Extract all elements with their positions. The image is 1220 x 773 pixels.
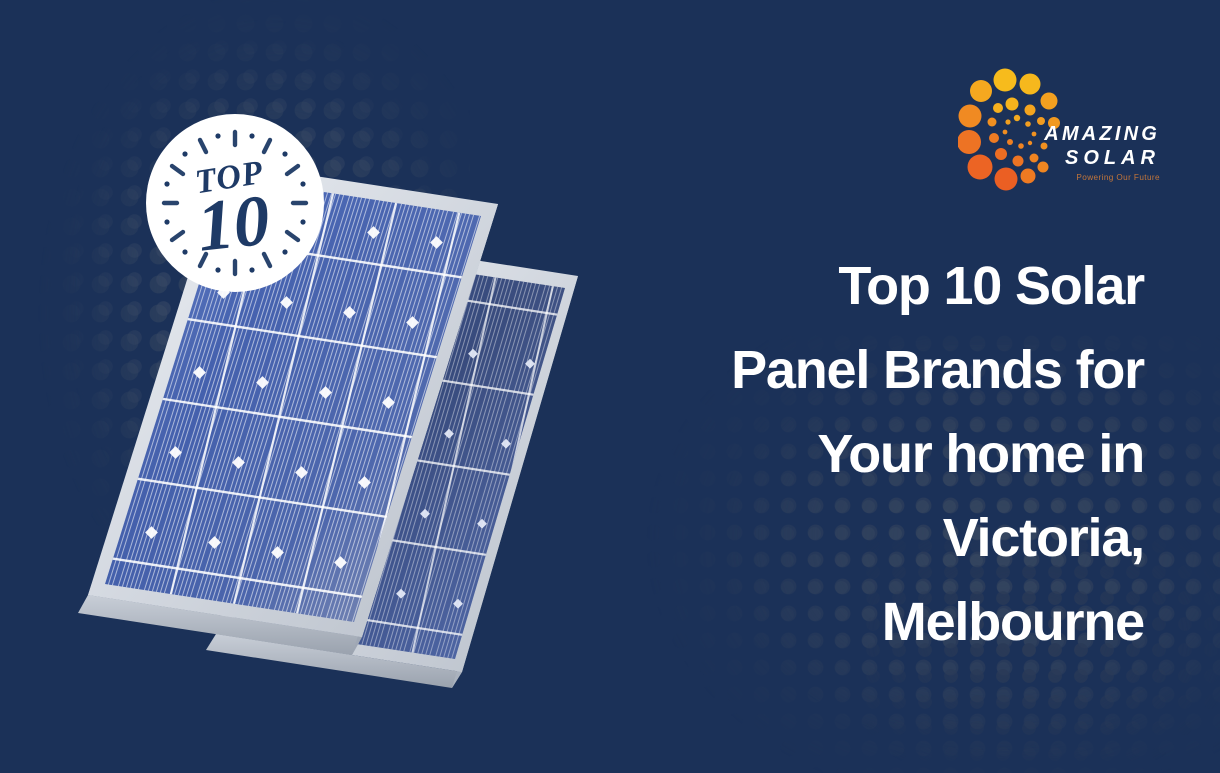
logo-name-line2: SOLAR: [1030, 148, 1160, 168]
solar-panels-illustration: [0, 0, 700, 773]
brand-logo[interactable]: AMAZING SOLAR Powering Our Future: [958, 66, 1158, 206]
headline: Top 10 Solar Panel Brands for Your home …: [614, 244, 1144, 664]
headline-line-4: Victoria,: [614, 496, 1144, 580]
poster-canvas: TOP 10: [0, 0, 1220, 773]
logo-name-line1: AMAZING: [1030, 124, 1160, 144]
svg-text:10: 10: [194, 180, 274, 267]
headline-line-2: Panel Brands for: [614, 328, 1144, 412]
headline-line-1: Top 10 Solar: [614, 244, 1144, 328]
logo-wordmark: AMAZING SOLAR Powering Our Future: [1030, 124, 1160, 182]
logo-tagline: Powering Our Future: [1030, 173, 1160, 182]
headline-line-3: Your home in: [614, 412, 1144, 496]
headline-line-5: Melbourne: [614, 580, 1144, 664]
top-10-badge: TOP 10: [146, 114, 324, 292]
top-10-badge-graphic: TOP 10: [146, 114, 324, 292]
